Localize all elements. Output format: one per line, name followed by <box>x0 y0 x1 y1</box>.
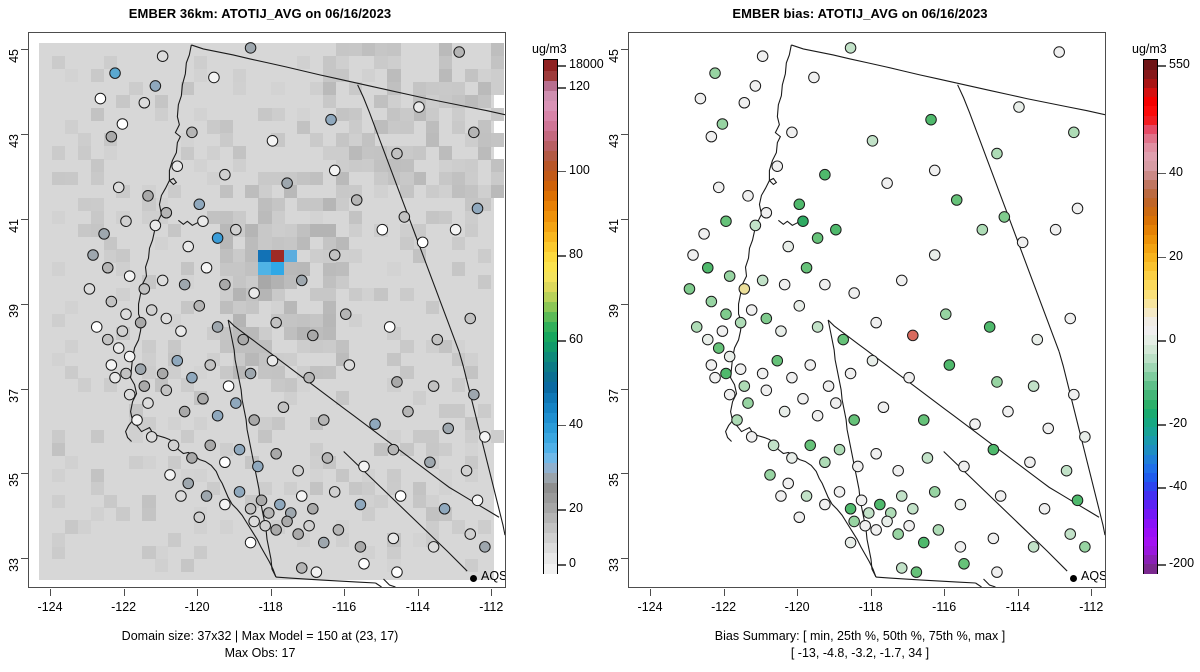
colorbar-tick-label: 0 <box>569 556 576 570</box>
aqs-observation-markers-model <box>29 33 505 587</box>
aqs-station-marker <box>179 279 190 290</box>
aqs-station-marker <box>955 542 966 553</box>
x-tick-label: -112 <box>461 600 521 614</box>
aqs-station-marker <box>234 444 245 455</box>
aqs-station-marker <box>801 262 812 273</box>
aqs-station-marker <box>282 178 293 189</box>
aqs-station-marker <box>955 499 966 510</box>
colorbar-segment <box>544 472 557 483</box>
colorbar-segment <box>544 412 557 423</box>
colorbar-segment <box>1144 289 1157 299</box>
aqs-station-marker <box>139 284 150 295</box>
aqs-station-marker <box>977 224 988 235</box>
aqs-station-marker <box>820 499 831 510</box>
aqs-station-marker <box>999 212 1010 223</box>
colorbar-segment <box>1144 555 1157 565</box>
aqs-station-marker <box>344 360 355 371</box>
colorbar-tick <box>558 171 566 173</box>
aqs-station-marker <box>743 398 754 409</box>
x-tick <box>124 589 125 596</box>
aqs-station-marker <box>721 309 732 320</box>
colorbar-segment <box>1144 399 1157 409</box>
colorbar-segment <box>1144 262 1157 272</box>
colorbar-tick-label: 20 <box>1169 249 1183 263</box>
y-tick <box>21 304 28 305</box>
x-tick-label: -122 <box>94 600 154 614</box>
aqs-station-marker <box>750 220 761 231</box>
colorbar-segment <box>544 402 557 413</box>
colorbar-segment <box>544 482 557 493</box>
aqs-station-marker <box>724 389 735 400</box>
aqs-station-marker <box>231 224 242 235</box>
y-tick-label: 33 <box>607 558 621 604</box>
aqs-station-marker <box>267 355 278 366</box>
aqs-station-marker <box>333 525 344 536</box>
aqs-station-marker <box>150 81 161 92</box>
aqs-station-marker <box>161 207 172 218</box>
x-tick <box>650 589 651 596</box>
aqs-station-marker <box>384 322 395 333</box>
aqs-station-marker <box>805 360 816 371</box>
caption-bias-line2: [ -13, -4.8, -3.2, -1.7, 34 ] <box>600 645 1120 661</box>
aqs-station-marker <box>1003 406 1014 417</box>
aqs-station-marker <box>359 559 370 570</box>
colorbar-segment <box>544 201 557 212</box>
panel-bias: EMBER bias: ATOTIJ_AVG on 06/16/2023 <box>600 0 1200 672</box>
colorbar-segment <box>544 60 557 71</box>
colorbar-segment <box>1144 179 1157 189</box>
aqs-station-marker <box>724 351 735 362</box>
aqs-station-marker <box>124 271 135 282</box>
aqs-station-marker <box>220 499 231 510</box>
colorbar-segment <box>1144 326 1157 336</box>
colorbar-segment <box>1144 207 1157 217</box>
aqs-station-marker <box>392 377 403 388</box>
colorbar-segment <box>1144 60 1157 70</box>
colorbar-tick-label: 20 <box>569 501 583 515</box>
colorbar-segment <box>1144 106 1157 116</box>
colorbar-segment <box>1144 161 1157 171</box>
aqs-station-marker <box>713 182 724 193</box>
aqs-station-marker <box>845 43 856 54</box>
y-tick-label: 41 <box>7 219 21 265</box>
aqs-station-marker <box>798 393 809 404</box>
aqs-station-marker <box>768 440 779 451</box>
aqs-station-marker <box>926 114 937 125</box>
colorbar-segment <box>544 322 557 333</box>
aqs-station-marker <box>146 432 157 443</box>
aqs-station-marker <box>249 516 260 527</box>
y-tick <box>621 304 628 305</box>
y-tick <box>621 558 628 559</box>
aqs-station-marker <box>1069 389 1080 400</box>
aqs-station-marker <box>831 398 842 409</box>
colorbar-segment <box>544 332 557 343</box>
aqs-station-marker <box>326 114 337 125</box>
aqs-station-marker <box>443 423 454 434</box>
aqs-station-marker <box>684 284 695 295</box>
colorbar-segment <box>544 563 557 574</box>
colorbar-tick-label: 120 <box>569 79 590 93</box>
colorbar-tick <box>558 425 566 427</box>
colorbar-segment <box>544 271 557 282</box>
aqs-station-marker <box>311 567 322 578</box>
aqs-station-marker <box>801 491 812 502</box>
aqs-station-marker <box>395 491 406 502</box>
aqs-station-marker <box>135 364 146 375</box>
y-tick <box>621 389 628 390</box>
aqs-station-marker <box>428 381 439 392</box>
aqs-station-marker <box>992 567 1003 578</box>
aqs-station-marker <box>882 178 893 189</box>
colorbar-segment <box>1144 353 1157 363</box>
aqs-station-marker <box>878 402 889 413</box>
aqs-station-marker <box>992 377 1003 388</box>
aqs-station-marker <box>234 487 245 498</box>
colorbar-segment <box>544 80 557 91</box>
aqs-station-marker <box>465 313 476 324</box>
aqs-station-marker <box>820 279 831 290</box>
colorbar-segment <box>544 110 557 121</box>
aqs-station-marker <box>735 364 746 375</box>
aqs-station-marker <box>198 216 209 227</box>
colorbar-tick <box>1158 340 1166 342</box>
aqs-station-marker <box>772 161 783 172</box>
y-tick <box>621 134 628 135</box>
aqs-station-marker <box>377 224 388 235</box>
x-tick <box>797 589 798 596</box>
aqs-station-marker <box>1039 504 1050 515</box>
colorbar-tick-label: 0 <box>1169 332 1176 346</box>
aqs-station-marker <box>165 470 176 481</box>
aqs-station-marker <box>245 537 256 548</box>
aqs-station-marker <box>194 301 205 312</box>
aqs-station-marker <box>820 169 831 180</box>
colorbar-segment <box>1144 271 1157 281</box>
aqs-station-marker <box>849 288 860 299</box>
aqs-station-marker <box>904 520 915 531</box>
aqs-station-marker <box>121 309 132 320</box>
colorbar-segment <box>1144 509 1157 519</box>
aqs-station-marker <box>432 334 443 345</box>
aqs-station-marker <box>882 516 893 527</box>
aqs-station-marker <box>220 457 231 468</box>
map-clip-model <box>29 33 505 587</box>
aqs-station-marker <box>110 372 121 383</box>
aqs-station-marker <box>205 360 216 371</box>
colorbar-segment <box>544 251 557 262</box>
x-tick <box>871 589 872 596</box>
aqs-station-marker <box>834 487 845 498</box>
aqs-station-marker <box>706 131 717 142</box>
colorbar-segment <box>1144 491 1157 501</box>
aqs-station-marker <box>860 520 871 531</box>
aqs-station-marker <box>984 322 995 333</box>
aqs-station-marker <box>871 317 882 328</box>
aqs-station-marker <box>1080 432 1091 443</box>
x-tick <box>724 589 725 596</box>
aqs-station-marker <box>929 165 940 176</box>
aqs-legend-dot-bias <box>1070 575 1077 582</box>
colorbar-tick-label: 550 <box>1169 57 1190 71</box>
aqs-station-marker <box>787 127 798 138</box>
colorbar-segment <box>1144 463 1157 473</box>
colorbar-segment <box>1144 335 1157 345</box>
aqs-station-marker <box>867 136 878 147</box>
aqs-station-marker <box>743 191 754 202</box>
colorbar-segment <box>1144 133 1157 143</box>
aqs-station-marker <box>995 491 1006 502</box>
aqs-station-marker <box>732 415 743 426</box>
aqs-station-marker <box>1025 457 1036 468</box>
colorbar-strip-model <box>543 59 558 574</box>
aqs-station-marker <box>918 537 929 548</box>
aqs-station-marker <box>351 195 362 206</box>
aqs-station-marker <box>212 233 223 244</box>
x-tick-label: -112 <box>1061 600 1121 614</box>
colorbar-segment <box>1144 546 1157 556</box>
aqs-station-marker <box>271 525 282 536</box>
aqs-station-marker <box>1072 495 1083 506</box>
map-plot-model: AQS <box>28 32 506 588</box>
aqs-station-marker <box>399 212 410 223</box>
colorbar-tick <box>558 87 566 89</box>
aqs-station-marker <box>911 567 922 578</box>
aqs-station-marker <box>812 322 823 333</box>
colorbar-tick <box>1158 564 1166 566</box>
colorbar-segment <box>1144 317 1157 327</box>
colorbar-tick-label: 40 <box>569 417 583 431</box>
aqs-station-marker <box>245 504 256 515</box>
aqs-station-marker <box>922 453 933 464</box>
colorbar-segment <box>1144 234 1157 244</box>
aqs-station-marker <box>201 262 212 273</box>
aqs-station-marker <box>893 465 904 476</box>
x-tick-label: -116 <box>314 600 374 614</box>
aqs-station-marker <box>845 368 856 379</box>
x-tick-label: -116 <box>914 600 974 614</box>
y-tick-label: 41 <box>607 219 621 265</box>
aqs-station-marker <box>472 203 483 214</box>
aqs-station-marker <box>812 233 823 244</box>
aqs-station-marker <box>853 461 864 472</box>
aqs-station-marker <box>329 165 340 176</box>
aqs-station-marker <box>1072 203 1083 214</box>
aqs-station-marker <box>875 499 886 510</box>
colorbar-segment <box>1144 408 1157 418</box>
colorbar-segment <box>544 362 557 373</box>
aqs-station-marker <box>1043 423 1054 434</box>
aqs-station-marker <box>959 461 970 472</box>
aqs-station-marker <box>205 440 216 451</box>
aqs-station-marker <box>472 495 483 506</box>
colorbar-bias: ug/m3 55040200-20-40-200 <box>1128 40 1200 600</box>
aqs-station-marker <box>124 351 135 362</box>
y-tick-label: 33 <box>7 558 21 604</box>
caption-model-line2: Max Obs: 17 <box>0 645 520 661</box>
aqs-station-marker <box>296 563 307 574</box>
aqs-station-marker <box>1028 381 1039 392</box>
aqs-station-marker <box>157 275 168 286</box>
colorbar-segment <box>544 120 557 131</box>
colorbar-segment <box>1144 78 1157 88</box>
colorbar-tick-label: 80 <box>569 247 583 261</box>
aqs-station-marker <box>1061 465 1072 476</box>
aqs-station-marker <box>99 229 110 240</box>
aqs-station-marker <box>710 68 721 79</box>
aqs-station-marker <box>183 478 194 489</box>
aqs-station-marker <box>194 512 205 523</box>
colorbar-tick <box>1158 487 1166 489</box>
y-tick <box>21 473 28 474</box>
colorbar-segment <box>1144 472 1157 482</box>
aqs-station-marker <box>691 322 702 333</box>
aqs-station-marker <box>392 148 403 159</box>
aqs-station-marker <box>820 457 831 468</box>
aqs-station-marker <box>212 322 223 333</box>
aqs-station-marker <box>428 542 439 553</box>
colorbar-segment <box>1144 142 1157 152</box>
colorbar-segment <box>1144 500 1157 510</box>
aqs-station-marker <box>988 444 999 455</box>
aqs-station-marker <box>403 406 414 417</box>
aqs-station-marker <box>209 72 220 83</box>
aqs-station-marker <box>469 127 480 138</box>
aqs-station-marker <box>908 330 919 341</box>
aqs-station-marker <box>867 355 878 366</box>
aqs-station-marker <box>1065 313 1076 324</box>
colorbar-segment <box>1144 445 1157 455</box>
aqs-station-marker <box>845 537 856 548</box>
aqs-station-marker <box>260 520 271 531</box>
colorbar-segment <box>544 462 557 473</box>
aqs-station-marker <box>176 491 187 502</box>
aqs-station-marker <box>757 275 768 286</box>
aqs-station-marker <box>809 72 820 83</box>
aqs-station-marker <box>176 326 187 337</box>
aqs-station-marker <box>896 491 907 502</box>
colorbar-segment <box>544 140 557 151</box>
colorbar-tick-label: 40 <box>1169 165 1183 179</box>
colorbar-segment <box>544 352 557 363</box>
colorbar-segment <box>1144 124 1157 134</box>
colorbar-segment <box>544 191 557 202</box>
aqs-station-marker <box>1080 542 1091 553</box>
colorbar-segment <box>544 241 557 252</box>
colorbar-segment <box>1144 252 1157 262</box>
colorbar-segment <box>544 90 557 101</box>
colorbar-segment <box>544 553 557 564</box>
aqs-station-marker <box>794 199 805 210</box>
colorbar-segment <box>1144 454 1157 464</box>
aqs-station-marker <box>988 533 999 544</box>
aqs-station-marker <box>113 343 124 354</box>
aqs-station-marker <box>168 440 179 451</box>
aqs-station-marker <box>157 368 168 379</box>
aqs-station-marker <box>772 355 783 366</box>
colorbar-segment <box>544 422 557 433</box>
aqs-station-marker <box>359 461 370 472</box>
aqs-station-marker <box>739 284 750 295</box>
aqs-station-marker <box>139 97 150 108</box>
colorbar-units-bias: ug/m3 <box>1132 42 1167 56</box>
x-tick-label: -120 <box>767 600 827 614</box>
colorbar-segment <box>1144 436 1157 446</box>
aqs-station-marker <box>776 326 787 337</box>
y-tick-label: 35 <box>7 473 21 519</box>
aqs-station-marker <box>95 93 106 104</box>
colorbar-segment <box>1144 381 1157 391</box>
colorbar-segment <box>1144 97 1157 107</box>
aqs-station-marker <box>1028 542 1039 553</box>
aqs-station-marker <box>293 529 304 540</box>
aqs-station-marker <box>132 415 143 426</box>
aqs-station-marker <box>187 372 198 383</box>
colorbar-segment <box>1144 371 1157 381</box>
aqs-station-marker <box>761 385 772 396</box>
colorbar-segment <box>1144 188 1157 198</box>
y-tick <box>21 49 28 50</box>
colorbar-segment <box>1144 197 1157 207</box>
colorbar-tick-label: 60 <box>569 332 583 346</box>
aqs-station-marker <box>179 406 190 417</box>
aqs-station-marker <box>739 381 750 392</box>
aqs-station-marker <box>414 102 425 113</box>
aqs-station-marker <box>318 537 329 548</box>
colorbar-segment <box>1144 225 1157 235</box>
aqs-station-marker <box>296 491 307 502</box>
aqs-station-marker <box>84 284 95 295</box>
colorbar-model: ug/m3 18000120100806040200 <box>528 40 600 600</box>
colorbar-segment <box>544 513 557 524</box>
colorbar-segment <box>544 342 557 353</box>
colorbar-segment <box>544 291 557 302</box>
aqs-station-marker <box>157 51 168 62</box>
aqs-station-marker <box>746 305 757 316</box>
aqs-station-marker <box>787 372 798 383</box>
aqs-station-marker <box>329 250 340 261</box>
colorbar-segment <box>544 452 557 463</box>
aqs-station-marker <box>245 43 256 54</box>
aqs-station-marker <box>172 355 183 366</box>
panel-title-bias: EMBER bias: ATOTIJ_AVG on 06/16/2023 <box>600 6 1120 21</box>
colorbar-segment <box>544 70 557 81</box>
aqs-station-marker <box>1017 237 1028 248</box>
colorbar-tick-label: -200 <box>1169 556 1194 570</box>
colorbar-segment <box>544 181 557 192</box>
aqs-station-marker <box>146 305 157 316</box>
aqs-station-marker <box>392 567 403 578</box>
colorbar-segment <box>1144 536 1157 546</box>
colorbar-strip-bias <box>1143 59 1158 574</box>
x-tick <box>344 589 345 596</box>
y-tick <box>621 219 628 220</box>
aqs-station-marker <box>739 97 750 108</box>
aqs-station-marker <box>150 220 161 231</box>
aqs-station-marker <box>992 148 1003 159</box>
x-tick-label: -118 <box>841 600 901 614</box>
aqs-station-marker <box>699 229 710 240</box>
colorbar-tick <box>558 65 566 67</box>
aqs-station-marker <box>929 250 940 261</box>
map-plot-bias: AQS <box>628 32 1106 588</box>
caption-bias-line1: Bias Summary: [ min, 25th %, 50th %, 75t… <box>600 628 1120 644</box>
colorbar-segment <box>1144 564 1157 574</box>
aqs-station-marker <box>864 508 875 519</box>
aqs-station-marker <box>765 470 776 481</box>
x-tick <box>197 589 198 596</box>
aqs-station-marker <box>117 119 128 130</box>
